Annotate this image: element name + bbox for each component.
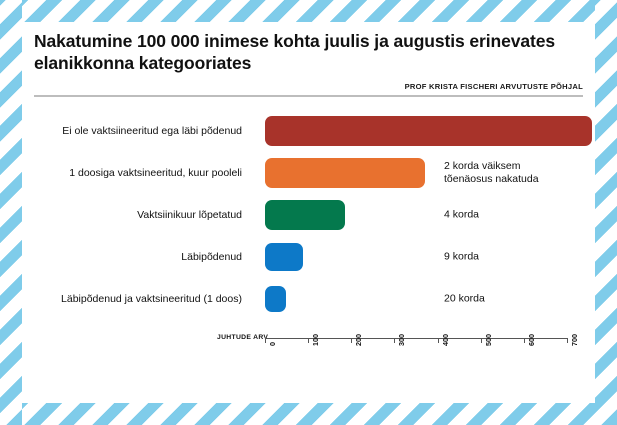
bar[interactable] [265,243,303,271]
decorative-border-bottom [0,403,617,425]
x-axis-end-cap [567,338,568,343]
bar[interactable] [265,200,345,230]
chart-card: Nakatumine 100 000 inimese kohta juulis … [22,22,595,403]
bar[interactable] [265,116,592,146]
bar-category-label: Ei ole vaktsiineeritud ega läbi põdenud [22,110,252,152]
x-axis: JUHTUDE ARV 0100200300400500600700 [22,338,595,398]
bar-category-label: Läbipõdenud ja vaktsineeritud (1 doos) [22,278,252,320]
x-axis-tick-label: 400 [441,334,450,346]
bar-value-annotation: 9 korda [444,250,479,263]
bar[interactable] [265,158,425,188]
bar-row: Läbipõdenud ja vaktsineeritud (1 doos)20… [22,278,595,320]
x-axis-tick [438,338,439,343]
bar-value-annotation: 2 korda väiksem tõenäosus nakatuda [444,160,539,186]
x-axis-tick-label: 200 [354,334,363,346]
x-axis-tick-label: 600 [527,334,536,346]
x-axis-tick [481,338,482,343]
x-axis-tick [524,338,525,343]
bar-category-label: Läbipõdenud [22,236,252,278]
bar-row: Ei ole vaktsiineeritud ega läbi põdenud [22,110,595,152]
x-axis-tick [394,338,395,343]
decorative-border-top [0,0,617,22]
decorative-border-left [0,0,22,425]
bar[interactable] [265,286,286,312]
decorative-border-right [595,0,617,425]
bar-value-annotation: 4 korda [444,208,479,221]
bar-row: Läbipõdenud9 korda [22,236,595,278]
bar-category-label: Vaktsiinikuur lõpetatud [22,194,252,236]
bar-row: 1 doosiga vaktsineeritud, kuur pooleli2 … [22,152,595,194]
x-axis-end-cap [265,338,266,343]
x-axis-label: JUHTUDE ARV [217,334,268,341]
x-axis-tick-label: 500 [484,334,493,346]
x-axis-tick [351,338,352,343]
x-axis-tick-label: 700 [570,334,579,346]
x-axis-tick-label: 0 [268,342,277,346]
x-axis-tick [308,338,309,343]
chart-page: Nakatumine 100 000 inimese kohta juulis … [0,0,617,425]
bar-row: Vaktsiinikuur lõpetatud4 korda [22,194,595,236]
bar-category-label: 1 doosiga vaktsineeritud, kuur pooleli [22,152,252,194]
x-axis-tick-label: 300 [397,334,406,346]
x-axis-tick-label: 100 [311,334,320,346]
bar-value-annotation: 20 korda [444,292,485,305]
